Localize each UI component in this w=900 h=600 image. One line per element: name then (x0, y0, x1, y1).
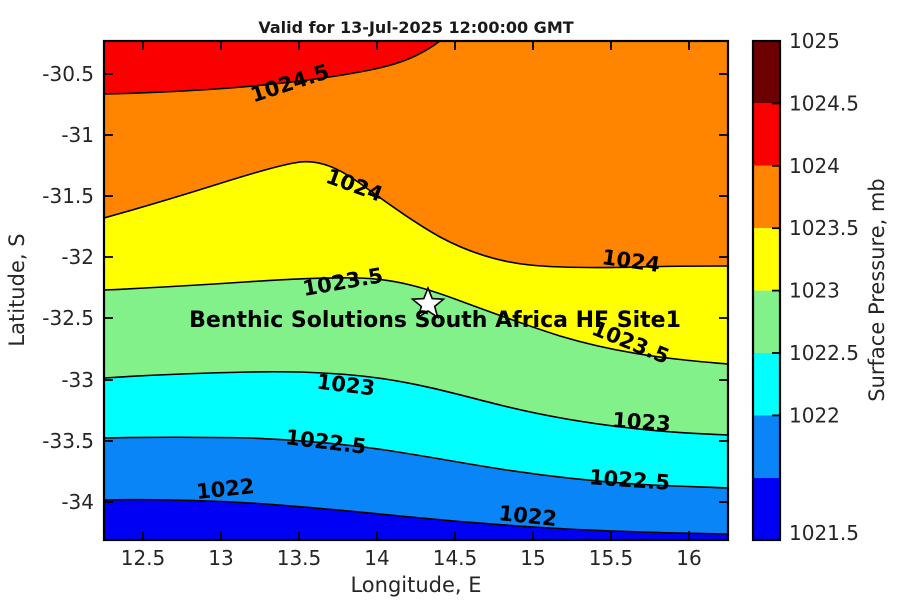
x-tick-label-7: 16 (676, 546, 701, 570)
colorbar-swatch-6 (753, 415, 780, 477)
x-tick-label-6: 15.5 (589, 546, 634, 570)
y-tick-labels: -30.5 -31 -31.5 -32 -32.5 -33 -33.5 -34 (42, 62, 94, 514)
x-tick-label-2: 13.5 (277, 546, 322, 570)
x-tick-label-0: 12.5 (121, 546, 166, 570)
colorbar-tick-label-1: 1024.5 (789, 91, 859, 115)
x-tick-labels: 12.5 13 13.5 14 14.5 15 15.5 16 (121, 546, 702, 570)
colorbar-tick-label-3: 1023.5 (789, 216, 859, 240)
colorbar-tick-label-6: 1022 (789, 403, 840, 427)
y-tick-label-7: -34 (61, 490, 94, 514)
y-tick-label-1: -31 (61, 123, 94, 147)
page-title: Valid for 13-Jul-2025 12:00:00 GMT (258, 18, 573, 37)
x-tick-label-3: 14 (364, 546, 389, 570)
y-tick-label-2: -31.5 (42, 184, 94, 208)
contour-field: 1024.5 1024 1024 1023.5 1023.5 1023 1023… (104, 41, 728, 540)
contour-figure: 1024.5 1024 1024 1023.5 1023.5 1023 1023… (0, 0, 900, 600)
colorbar-swatch-5 (753, 353, 780, 415)
x-tick-label-5: 15 (520, 546, 545, 570)
colorbar-tick-label-4: 1023 (789, 279, 840, 303)
colorbar[interactable]: 1025 1024.5 1024 1023.5 1023 1022.5 1022… (753, 29, 889, 545)
colorbar-swatch-2 (753, 166, 780, 228)
y-tick-label-4: -32.5 (42, 306, 94, 330)
contour-label-6: 1023 (611, 408, 671, 436)
x-axis-title: Longitude, E (350, 573, 481, 597)
colorbar-title: Surface Pressure, mb (865, 178, 889, 401)
colorbar-swatch-3 (753, 228, 780, 290)
colorbar-swatch-1 (753, 103, 780, 165)
colorbar-tick-label-0: 1025 (789, 29, 840, 53)
y-tick-label-3: -32 (61, 245, 94, 269)
colorbar-tick-label-2: 1024 (789, 154, 840, 178)
y-tick-label-6: -33.5 (42, 429, 94, 453)
x-tick-label-1: 13 (208, 546, 233, 570)
colorbar-tick-label-7: 1021.5 (789, 521, 859, 545)
colorbar-swatch-7 (753, 478, 780, 540)
y-tick-label-0: -30.5 (42, 62, 94, 86)
colorbar-swatch-4 (753, 291, 780, 353)
x-tick-label-4: 14.5 (433, 546, 478, 570)
y-axis-title: Latitude, S (5, 233, 29, 346)
colorbar-swatch-0 (753, 41, 780, 103)
colorbar-tick-label-5: 1022.5 (789, 341, 859, 365)
y-tick-label-5: -33 (61, 368, 94, 392)
site-label: Benthic Solutions South Africa HF Site1 (189, 308, 681, 333)
